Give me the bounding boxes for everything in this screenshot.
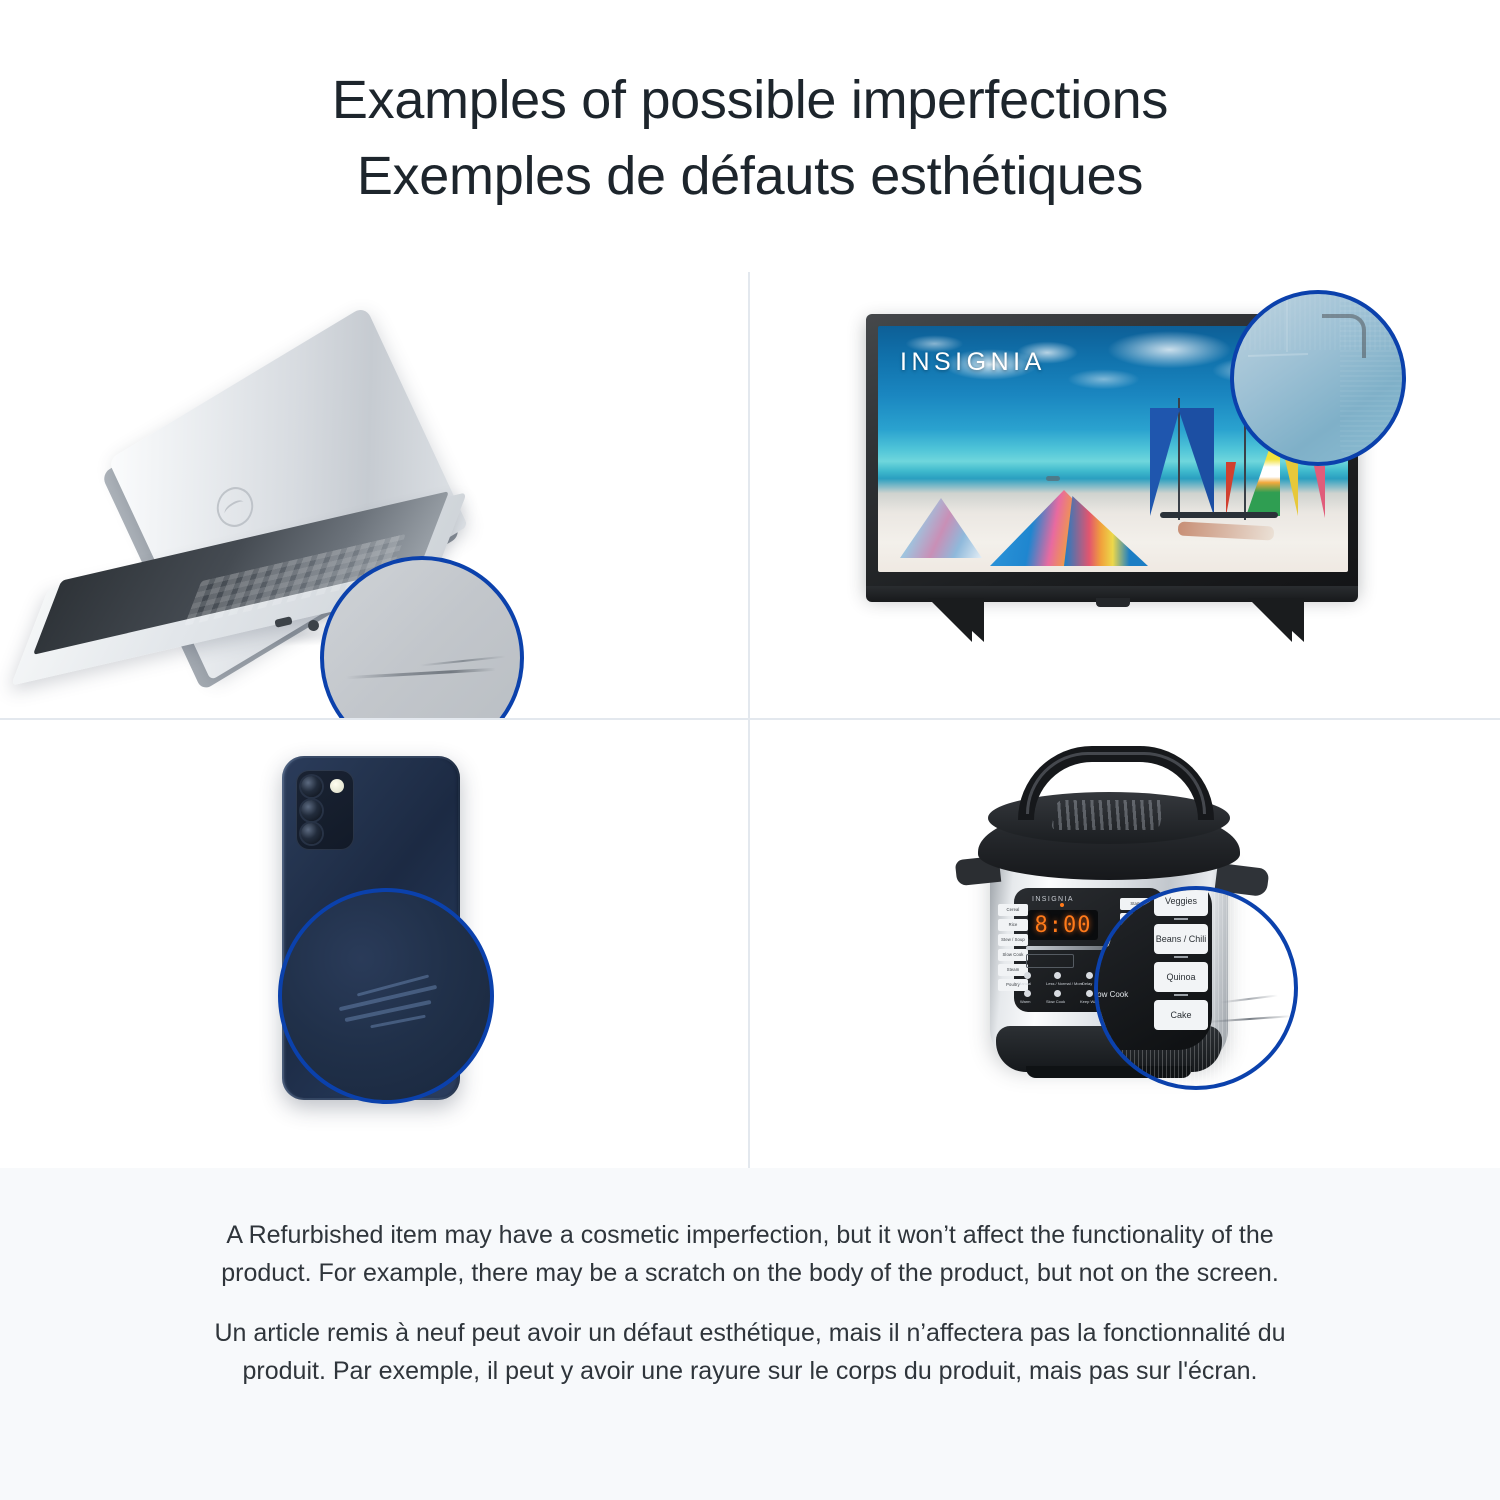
laptop-scratch-line [346, 668, 496, 679]
phone-scratch-line-2 [339, 985, 437, 1011]
cooker-status-indicator [1060, 903, 1064, 907]
example-cell-pressure-cooker: INSIGNIA 8:00 Cereal Rice Stew / Soup Sl… [750, 720, 1500, 1168]
pressure-cooker-image: INSIGNIA 8:00 Cereal Rice Stew / Soup Sl… [930, 740, 1330, 1116]
cooker-display-value: 8:00 [1035, 913, 1092, 938]
cooker-magnified-button[interactable]: Veggies [1154, 886, 1208, 916]
cooker-key-label: Slow Cook [1046, 999, 1065, 1004]
cooker-progress-bar [1026, 946, 1106, 950]
laptop-image [20, 368, 540, 658]
laptop-scratch-line-secondary [420, 656, 506, 667]
magnifier-cooker-scratch: Delay Slow Cook Veggies Beans / Chili Qu… [1094, 886, 1298, 1090]
cooker-keypad-button-3[interactable] [1086, 972, 1093, 979]
phone-camera-lens-3 [301, 823, 322, 844]
cooker-mode-window [1026, 954, 1074, 968]
cooker-keypad-button-4[interactable] [1024, 990, 1031, 997]
cooker-key-label: Manual [1018, 981, 1031, 986]
disclaimer-paragraph-fr: Un article remis à neuf peut avoir un dé… [180, 1314, 1320, 1390]
tv-catamaran-hull [1160, 512, 1278, 518]
cooker-keypad-button-1[interactable] [1024, 972, 1031, 979]
cooker-button[interactable]: Rice [998, 919, 1028, 931]
disclaimer-paragraph-en: A Refurbished item may have a cosmetic i… [180, 1216, 1320, 1292]
cooker-magnified-button[interactable]: Quinoa [1154, 962, 1208, 992]
phone-camera-lens-2 [301, 800, 322, 821]
tv-magnified-bezel-seam [1286, 294, 1288, 352]
cooker-button[interactable]: Cereal [998, 904, 1028, 916]
smartphone-image [240, 750, 508, 1130]
phone-scratch-line-4 [370, 1015, 426, 1029]
tv-leg-left-inner [922, 598, 972, 642]
cooker-key-label: Less / Normal / More [1046, 981, 1083, 986]
magnifier-phone-scratches [278, 888, 494, 1104]
examples-grid: INSIGNIA [0, 272, 1500, 1168]
tv-distant-boat [1046, 476, 1060, 481]
cooker-magnified-button[interactable]: Beans / Chili [1154, 924, 1208, 954]
cooker-magnified-label: Slow Cook [1094, 990, 1128, 999]
tv-magnified-bezel-corner [1322, 314, 1366, 358]
cooker-lcd-display: 8:00 [1028, 910, 1098, 940]
tv-bezel-scuff-mark [1248, 353, 1308, 357]
cooker-button-column-left: Cereal Rice Stew / Soup Slow Cook Steam … [998, 904, 1028, 991]
magnifier-tv-bezel-scuff [1230, 290, 1406, 466]
phone-camera-lens-1 [301, 776, 322, 797]
tv-beach-tent-1 [900, 498, 982, 558]
cooker-magnified-tick [1174, 956, 1188, 958]
page-title-en: Examples of possible imperfections [332, 62, 1168, 138]
cooker-magnified-button[interactable]: Cake [1154, 1000, 1208, 1030]
phone-flash-icon [330, 779, 344, 793]
example-cell-laptop [0, 272, 750, 720]
cooker-keypad-button-5[interactable] [1054, 990, 1061, 997]
tv-brand-text: INSIGNIA [900, 348, 1046, 377]
refurbished-imperfections-infographic: Examples of possible imperfections Exemp… [0, 0, 1500, 1500]
page-header: Examples of possible imperfections Exemp… [0, 0, 1500, 272]
tv-beach-tent-3 [1064, 496, 1148, 566]
cooker-key-label: Warm [1020, 999, 1031, 1004]
television-image: INSIGNIA [858, 290, 1378, 662]
tv-sail-blue-back [1150, 408, 1180, 516]
tv-sail-blue [1178, 408, 1214, 516]
cooker-progress-rows [1026, 946, 1106, 968]
cooker-scratch-line [1208, 1015, 1292, 1023]
footer-disclaimer: A Refurbished item may have a cosmetic i… [0, 1168, 1500, 1500]
cooker-keypad-button-6[interactable] [1086, 990, 1093, 997]
cooker-magnified-tick [1174, 918, 1188, 920]
cooker-scratch-line-secondary [1220, 994, 1278, 1003]
cooker-magnified-tick [1174, 994, 1188, 996]
page-title-fr: Exemples de défauts esthétiques [357, 138, 1143, 214]
cooker-keypad-button-2[interactable] [1054, 972, 1061, 979]
tv-logo-nub [1096, 598, 1130, 607]
tv-leg-right-inner [1242, 598, 1292, 642]
phone-scratch-line-1 [357, 974, 429, 996]
cooker-brand-text: INSIGNIA [1032, 896, 1074, 903]
example-cell-smartphone [0, 720, 750, 1168]
tv-sail-red [1226, 462, 1236, 516]
cooker-key-label: Delay [1082, 981, 1092, 986]
cooker-button[interactable]: Stew / Soup [998, 934, 1028, 946]
cooker-button[interactable]: Slow Cook [998, 949, 1028, 961]
tv-sail-pink [1314, 466, 1325, 518]
phone-camera-module [296, 770, 354, 850]
example-cell-television: INSIGNIA [750, 272, 1500, 720]
tv-beach-object [1178, 521, 1275, 540]
